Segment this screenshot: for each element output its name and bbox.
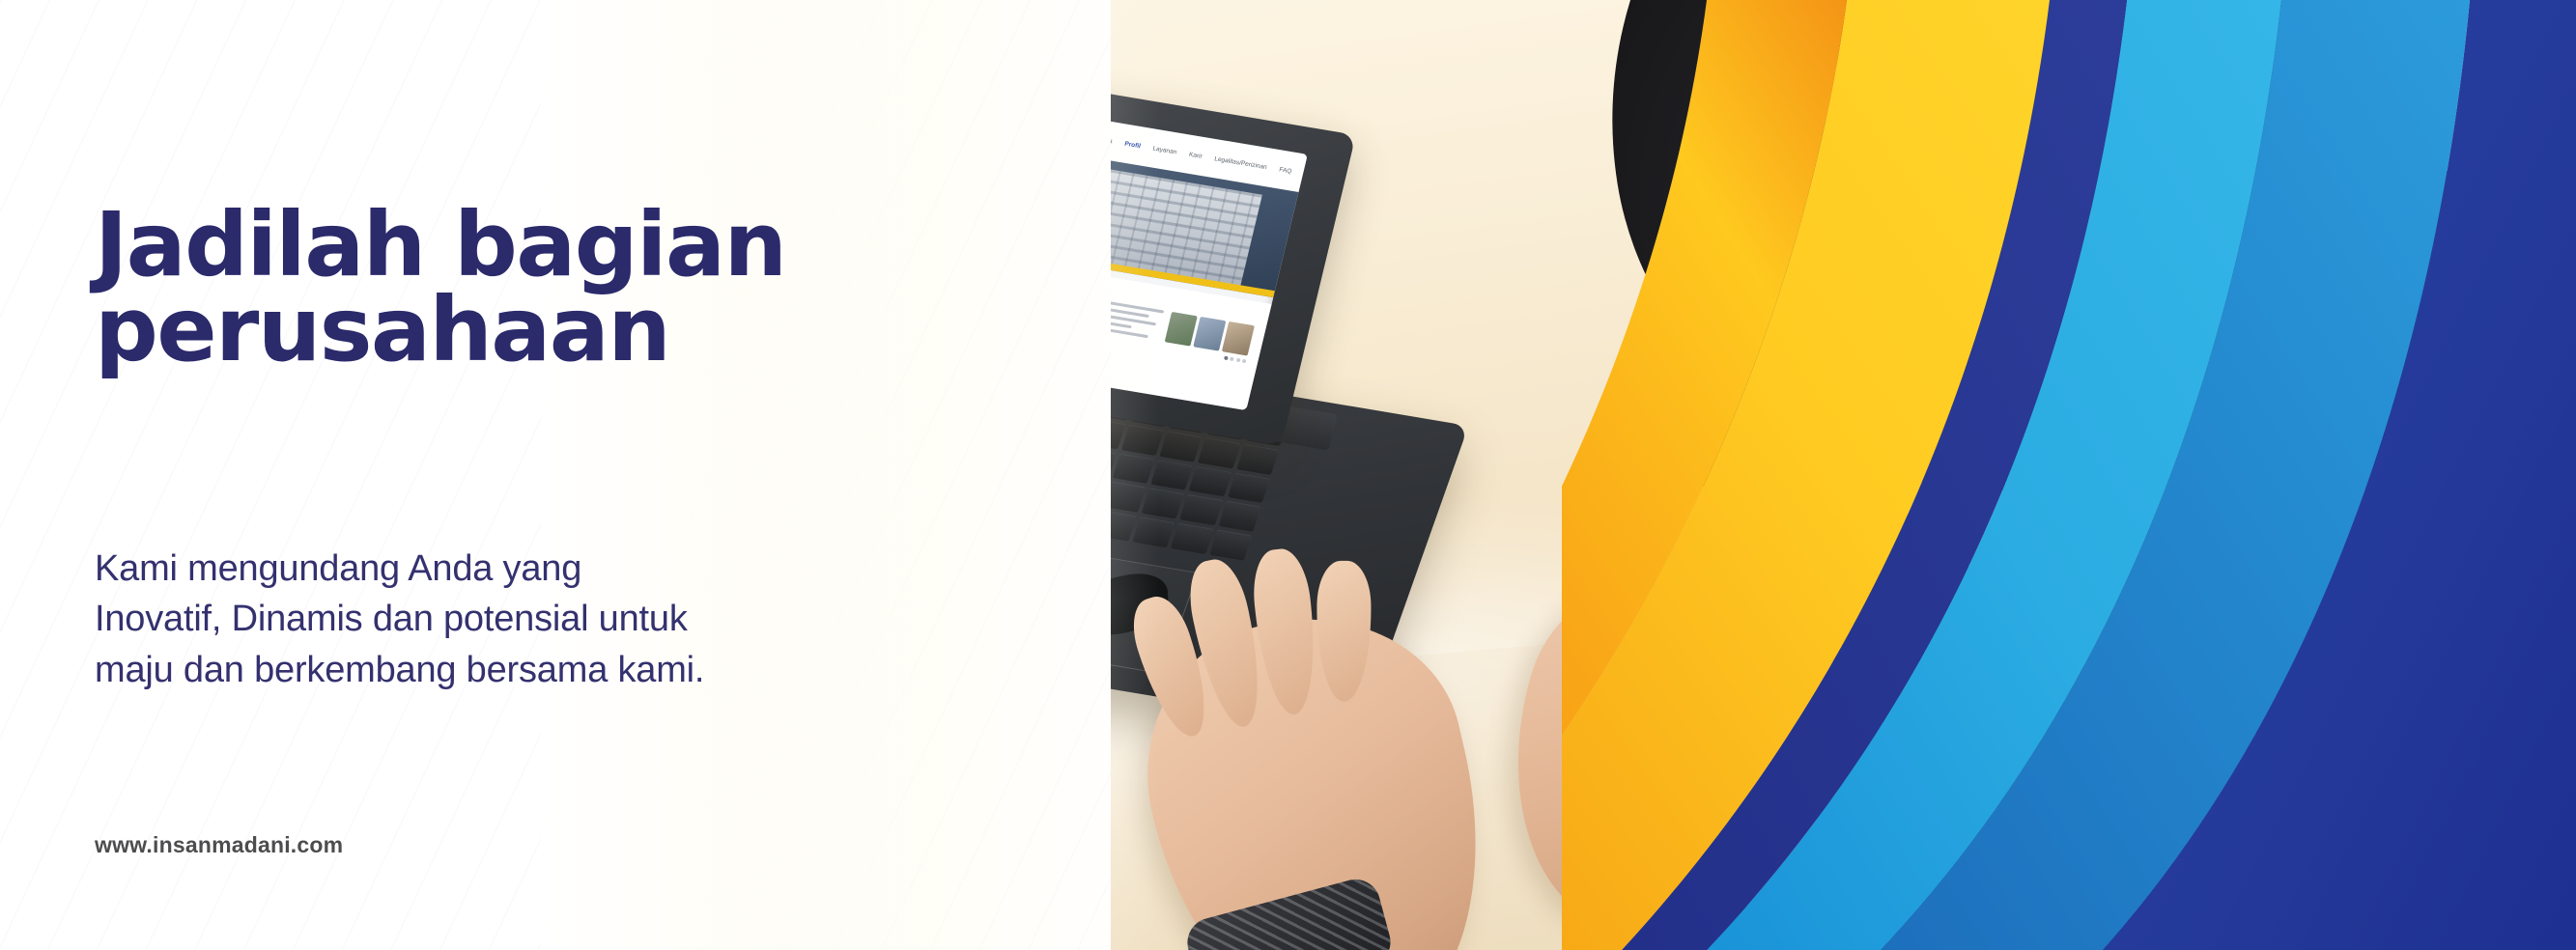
- recruitment-banner: INSAN MADANI Beranda Profil Layanan Kari…: [0, 0, 2576, 950]
- carousel-dot: [1230, 357, 1234, 362]
- page-title: Jadilah bagian perusahaan: [95, 203, 1061, 374]
- subheadline: Kami mengundang Anda yang Inovatif, Dina…: [95, 544, 713, 695]
- carousel-dot: [1235, 358, 1240, 363]
- thumbnail-image: [1193, 317, 1226, 351]
- nav-item-faq: FAQ: [1279, 166, 1292, 175]
- website-url[interactable]: www.insanmadani.com: [95, 832, 343, 858]
- thumbnail-image: [1222, 321, 1255, 356]
- finger: [1316, 561, 1371, 702]
- thumbnail-image: [1165, 312, 1198, 347]
- nav-item-karir: Karir: [1188, 151, 1203, 159]
- nav-item-profil: Profil: [1124, 140, 1142, 150]
- carousel-dot: [1242, 359, 1247, 364]
- website-thumbnail-group: [1162, 312, 1255, 365]
- nav-item-layanan: Layanan: [1152, 145, 1177, 155]
- carousel-dot: [1223, 356, 1228, 361]
- nav-item-legalitas: Legalitas/Perizinan: [1214, 155, 1268, 171]
- text-content: Jadilah bagian perusahaan Kami mengundan…: [0, 0, 1111, 950]
- headline-line-2: perusahaan: [95, 288, 1061, 373]
